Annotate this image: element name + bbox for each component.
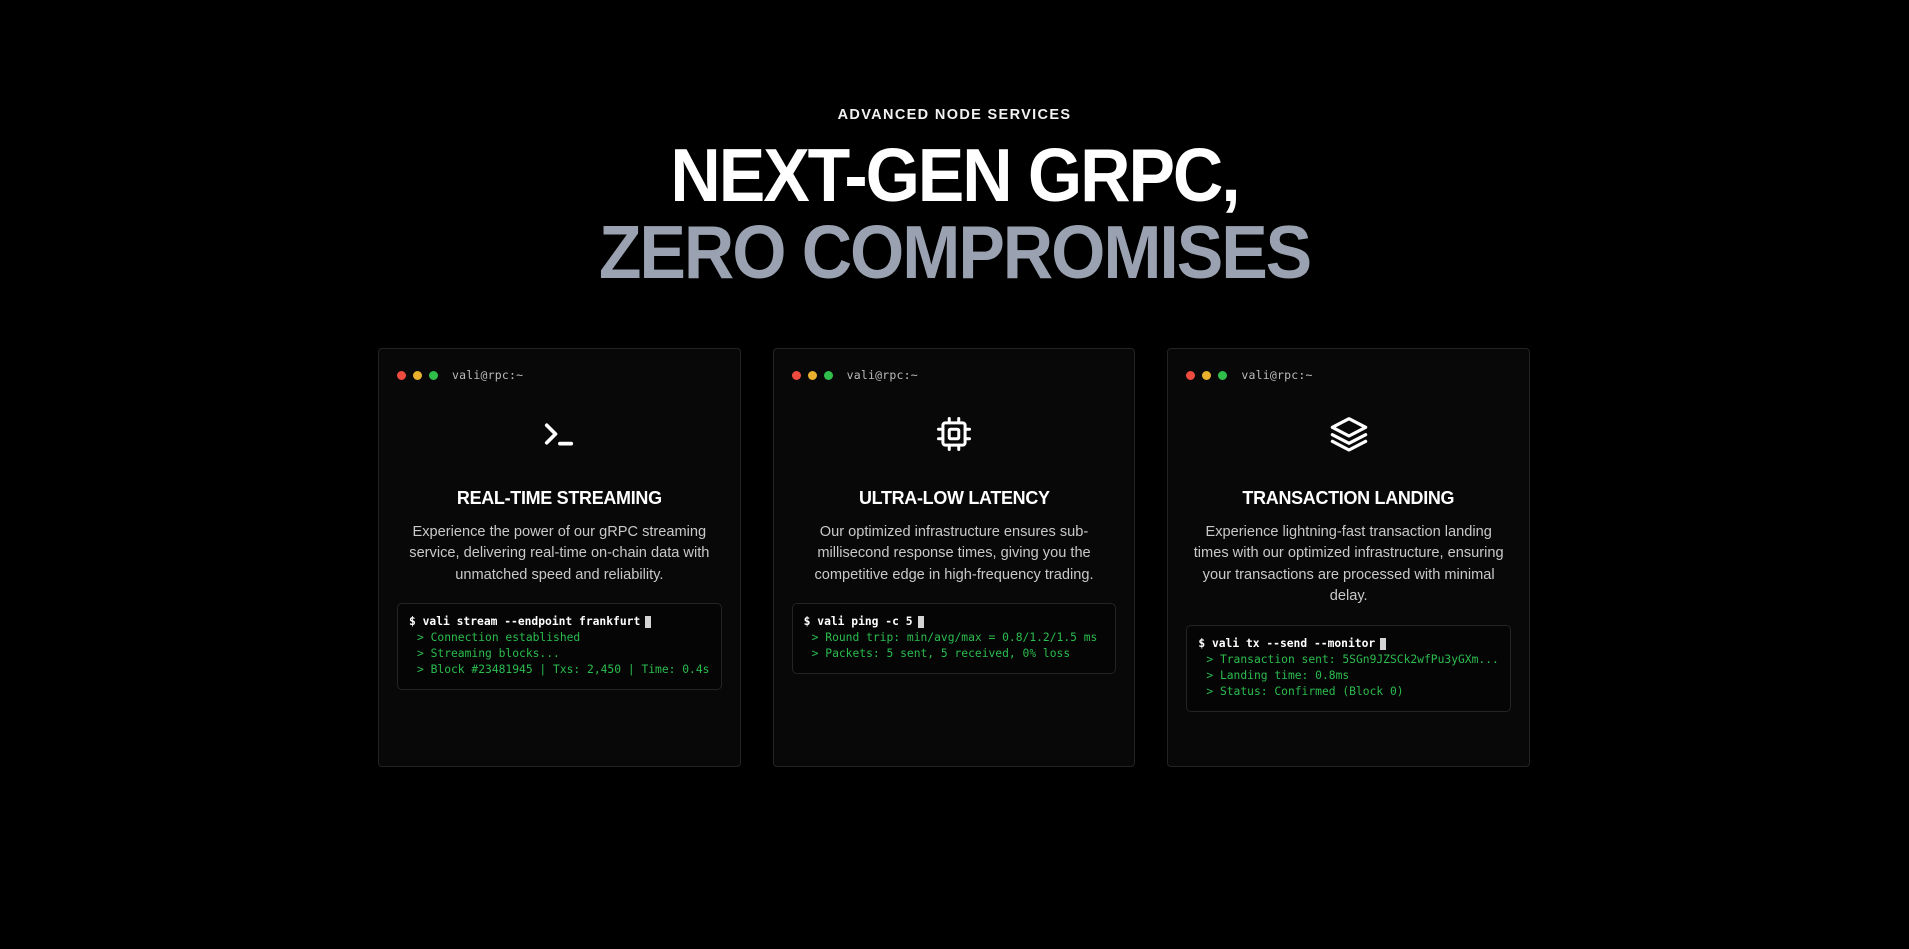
terminal-command-line: $ vali stream --endpoint frankfurt [409,614,710,630]
terminal-output-line: > Streaming blocks... [409,646,710,662]
terminal-command-line: $ vali tx --send --monitor [1198,636,1499,652]
card-title: REAL-TIME STREAMING [402,487,717,509]
window-maximize-dot-icon[interactable] [1218,371,1227,380]
page-root: ADVANCED NODE SERVICES NEXT-GEN GRPC, ZE… [0,0,1909,949]
terminal-output-line: > Connection established [409,630,710,646]
window-maximize-dot-icon[interactable] [824,371,833,380]
feature-card-real-time-streaming[interactable]: vali@rpc:~ REAL-TIME STREAMING Experienc… [378,348,741,767]
card-title: ULTRA-LOW LATENCY [797,487,1112,509]
layers-stack-icon [1186,412,1511,456]
terminal-cursor-icon [645,616,651,628]
window-close-dot-icon[interactable] [397,371,406,380]
terminal-chrome-bar: vali@rpc:~ [792,368,1117,382]
terminal-command-text: $ vali stream --endpoint frankfurt [409,614,640,630]
headline-line-secondary: ZERO COMPROMISES [67,217,1842,288]
window-minimize-dot-icon[interactable] [413,371,422,380]
terminal-output-block: $ vali ping -c 5 > Round trip: min/avg/m… [792,603,1117,674]
card-title: TRANSACTION LANDING [1191,487,1506,509]
terminal-output-block: $ vali stream --endpoint frankfurt > Con… [397,603,722,690]
terminal-output-line: > Round trip: min/avg/max = 0.8/1.2/1.5 … [804,630,1105,646]
terminal-chrome-label: vali@rpc:~ [1241,368,1312,382]
terminal-command-text: $ vali ping -c 5 [804,614,913,630]
terminal-output-line: > Transaction sent: 5SGn9JZSCk2wfPu3yGXm… [1198,652,1499,668]
card-description: Our optimized infrastructure ensures sub… [792,522,1117,586]
window-close-dot-icon[interactable] [1186,371,1195,380]
window-minimize-dot-icon[interactable] [808,371,817,380]
terminal-command-text: $ vali tx --send --monitor [1198,636,1375,652]
headline-line-primary: NEXT-GEN GRPC, [67,140,1842,211]
cpu-chip-icon [792,412,1117,456]
card-description: Experience lightning-fast transaction la… [1186,522,1511,608]
terminal-output-line: > Block #23481945 | Txs: 2,450 | Time: 0… [409,662,710,678]
window-close-dot-icon[interactable] [792,371,801,380]
terminal-chrome-label: vali@rpc:~ [452,368,523,382]
card-description: Experience the power of our gRPC streami… [397,522,722,586]
terminal-output-line: > Packets: 5 sent, 5 received, 0% loss [804,646,1105,662]
feature-card-transaction-landing[interactable]: vali@rpc:~ TRANSACTION LANDING Experienc… [1167,348,1530,767]
window-maximize-dot-icon[interactable] [429,371,438,380]
feature-card-ultra-low-latency[interactable]: vali@rpc:~ ULTRA-LOW LATENCY Our opti [773,348,1136,767]
eyebrow-label: ADVANCED NODE SERVICES [0,108,1909,123]
window-minimize-dot-icon[interactable] [1202,371,1211,380]
terminal-chrome-label: vali@rpc:~ [847,368,918,382]
terminal-chrome-bar: vali@rpc:~ [1186,368,1511,382]
terminal-chrome-bar: vali@rpc:~ [397,368,722,382]
terminal-cursor-icon [1380,638,1386,650]
terminal-prompt-icon [397,412,722,456]
terminal-cursor-icon [918,616,924,628]
hero-header: ADVANCED NODE SERVICES NEXT-GEN GRPC, ZE… [0,0,1909,288]
terminal-output-block: $ vali tx --send --monitor > Transaction… [1186,625,1511,712]
feature-cards-grid: vali@rpc:~ REAL-TIME STREAMING Experienc… [378,348,1530,767]
page-title: NEXT-GEN GRPC, ZERO COMPROMISES [0,140,1909,289]
terminal-output-line: > Landing time: 0.8ms [1198,668,1499,684]
terminal-command-line: $ vali ping -c 5 [804,614,1105,630]
terminal-output-line: > Status: Confirmed (Block 0) [1198,684,1499,700]
